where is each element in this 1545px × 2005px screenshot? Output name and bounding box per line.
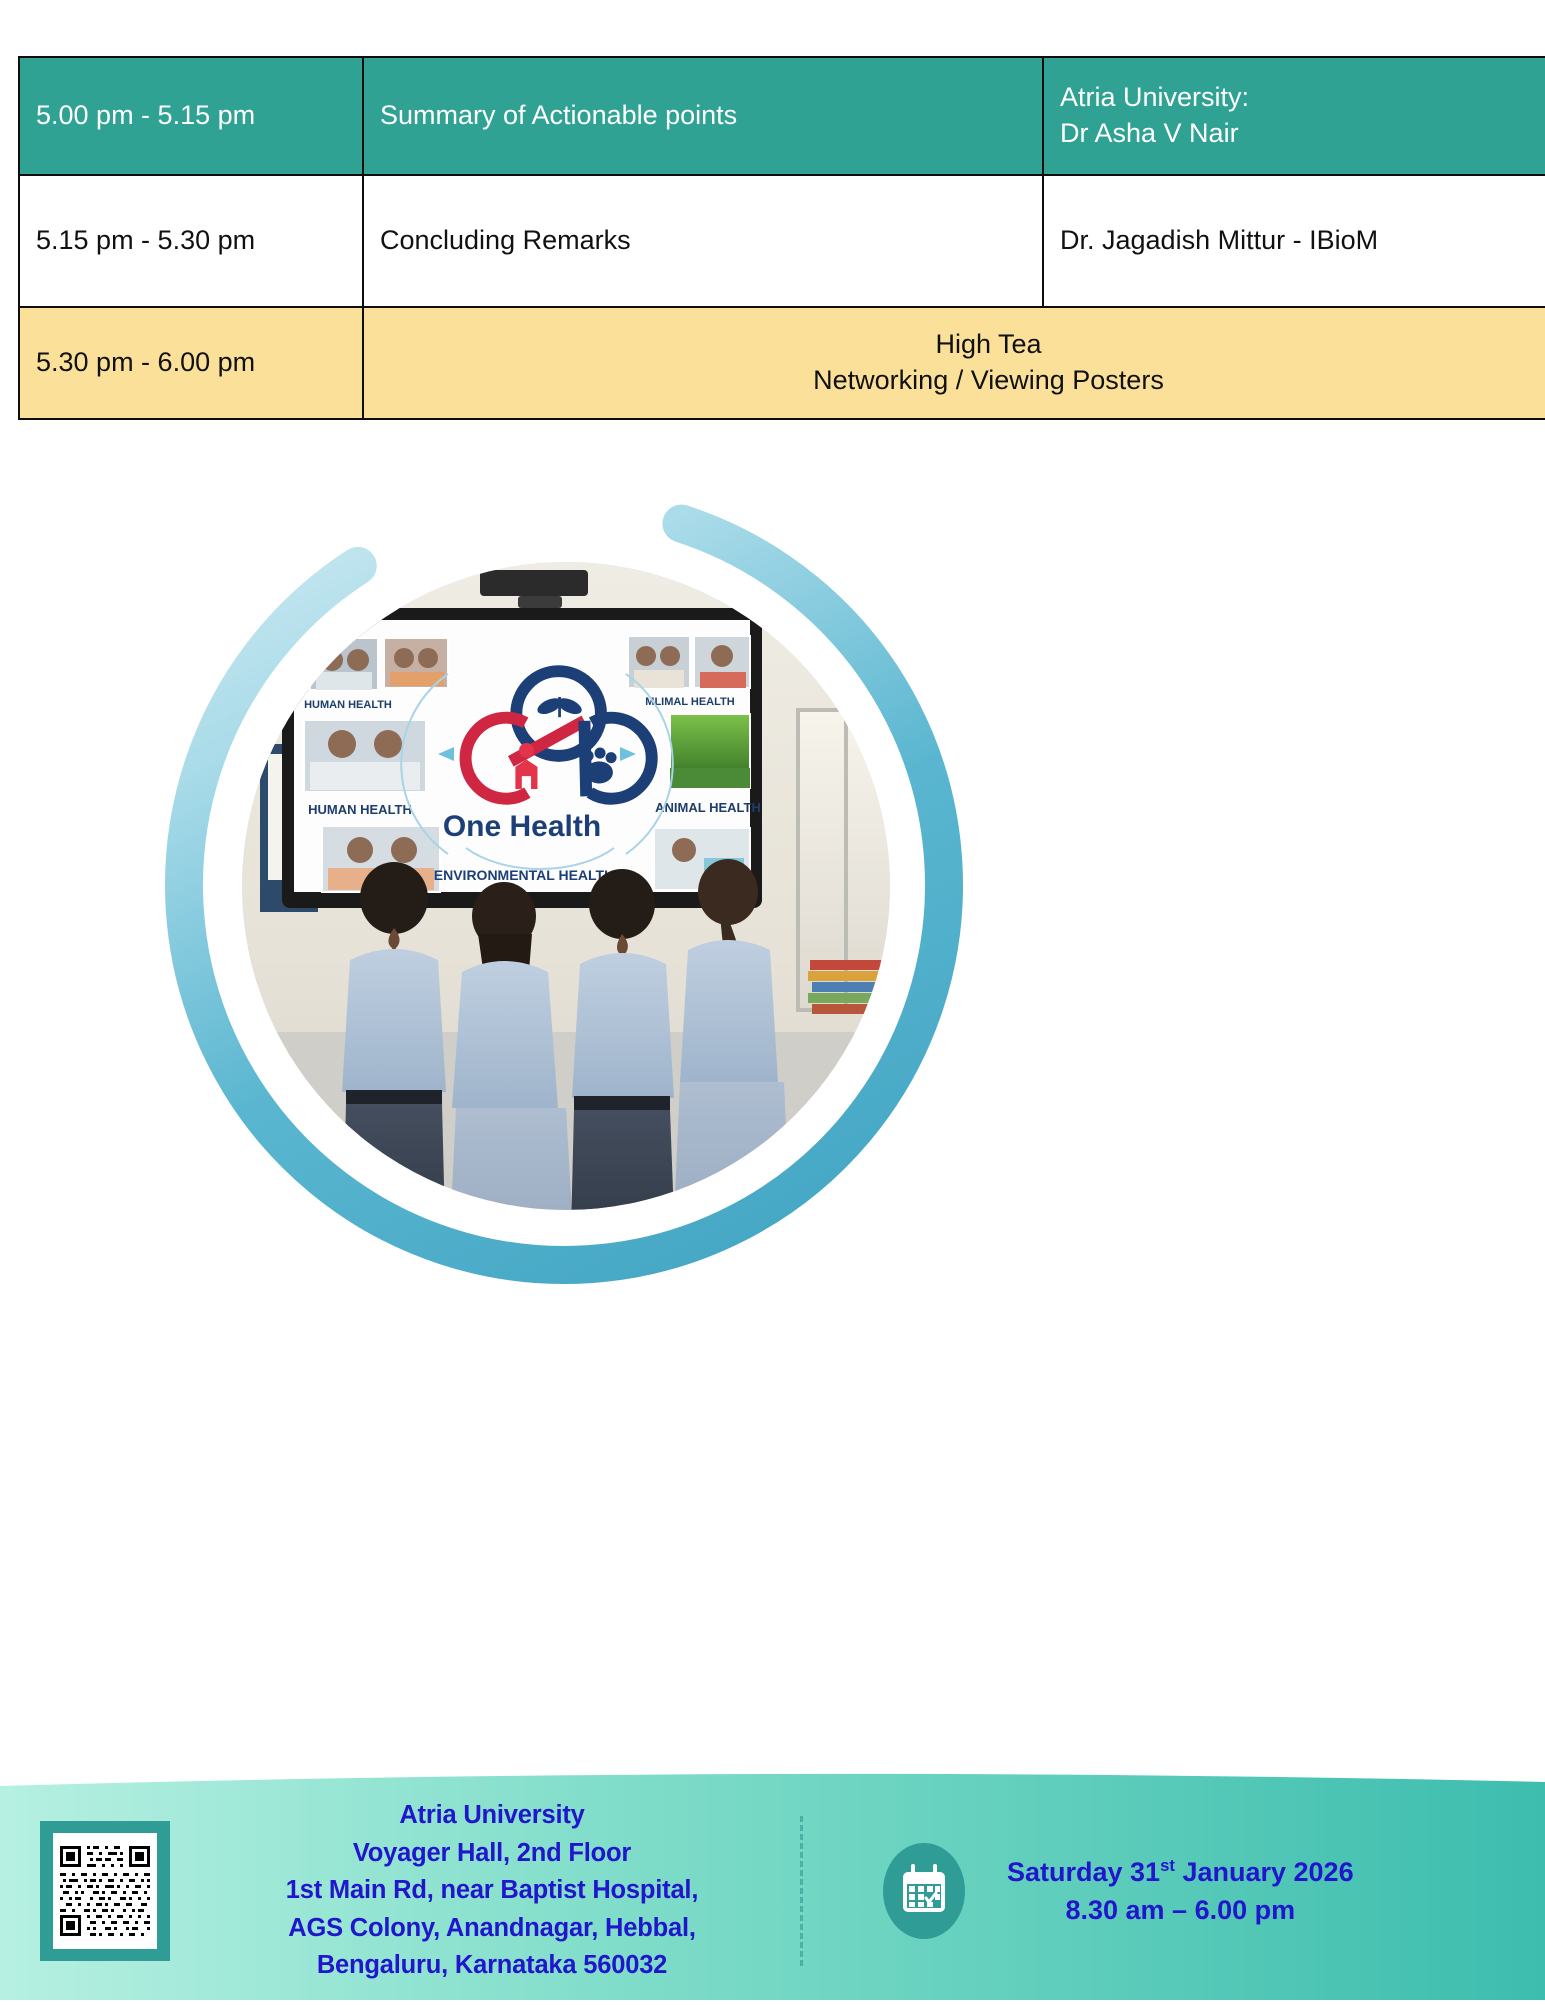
venue-address: Atria University Voyager Hall, 2nd Floor…: [170, 1797, 800, 1984]
event-date-time: Saturday 31st January 2026 8.30 am – 6.0…: [1007, 1853, 1354, 1930]
address-line: AGS Colony, Anandnagar, Hebbal,: [184, 1910, 800, 1947]
event-date: Saturday 31st January 2026: [1007, 1853, 1354, 1891]
circular-photo-medallion: HUMAN HEALTH HUMAN HEALTH MLIMAL HEALTH: [150, 466, 978, 1304]
svg-text:ENVIRONMENTAL HEALTH: ENVIRONMENTAL HEALTH: [434, 867, 614, 883]
svg-text:MLIMAL HEALTH: MLIMAL HEALTH: [645, 696, 734, 708]
svg-text:HUMAN HEALTH: HUMAN HEALTH: [304, 699, 392, 711]
qr-code-frame: [40, 1821, 170, 1961]
event-date-suffix: January 2026: [1175, 1857, 1354, 1887]
cell-time: 5.00 pm - 5.15 pm: [19, 57, 363, 175]
break-subtitle: Networking / Viewing Posters: [380, 363, 1545, 399]
schedule-table-container: 5.00 pm - 5.15 pm Summary of Actionable …: [18, 56, 1511, 420]
event-date-prefix: Saturday 31: [1007, 1857, 1160, 1887]
svg-text:One Health: One Health: [443, 810, 601, 843]
table-row: 5.30 pm - 6.00 pm High Tea Networking / …: [19, 307, 1545, 419]
speaker-name: Dr Asha V Nair: [1060, 116, 1545, 152]
table-row: 5.15 pm - 5.30 pm Concluding Remarks Dr.…: [19, 175, 1545, 307]
presentation-photo: HUMAN HEALTH HUMAN HEALTH MLIMAL HEALTH: [242, 562, 890, 1210]
address-line: Atria University: [184, 1797, 800, 1834]
speaker-affiliation: Atria University:: [1060, 80, 1545, 116]
cell-speaker: Dr. Jagadish Mittur - IBioM: [1043, 175, 1545, 307]
break-title: High Tea: [380, 327, 1545, 363]
footer-address-section: Atria University Voyager Hall, 2nd Floor…: [0, 1797, 800, 1984]
svg-text:ANIMAL HEALTH: ANIMAL HEALTH: [655, 800, 761, 815]
cell-time: 5.15 pm - 5.30 pm: [19, 175, 363, 307]
cell-time: 5.30 pm - 6.00 pm: [19, 307, 363, 419]
calendar-icon: [883, 1843, 965, 1939]
event-time-range: 8.30 am – 6.00 pm: [1007, 1891, 1354, 1929]
cell-topic: Summary of Actionable points: [363, 57, 1043, 175]
svg-text:HUMAN HEALTH: HUMAN HEALTH: [308, 802, 412, 817]
cell-merged-break: High Tea Networking / Viewing Posters: [363, 307, 1545, 419]
table-row: 5.00 pm - 5.15 pm Summary of Actionable …: [19, 57, 1545, 175]
cell-topic: Concluding Remarks: [363, 175, 1043, 307]
ordinal-suffix: st: [1160, 1856, 1175, 1875]
address-line: Voyager Hall, 2nd Floor: [184, 1835, 800, 1872]
qr-code[interactable]: [53, 1833, 157, 1949]
footer-contact-band: Atria University Voyager Hall, 2nd Floor…: [0, 1768, 1545, 2000]
cell-speaker: Atria University: Dr Asha V Nair: [1043, 57, 1545, 175]
schedule-table: 5.00 pm - 5.15 pm Summary of Actionable …: [18, 56, 1545, 420]
address-line: Bengaluru, Karnataka 560032: [184, 1947, 800, 1984]
footer-divider: [800, 1816, 805, 1966]
address-line: 1st Main Rd, near Baptist Hospital,: [184, 1872, 800, 1909]
footer-date-section: Saturday 31st January 2026 8.30 am – 6.0…: [805, 1843, 1545, 1939]
